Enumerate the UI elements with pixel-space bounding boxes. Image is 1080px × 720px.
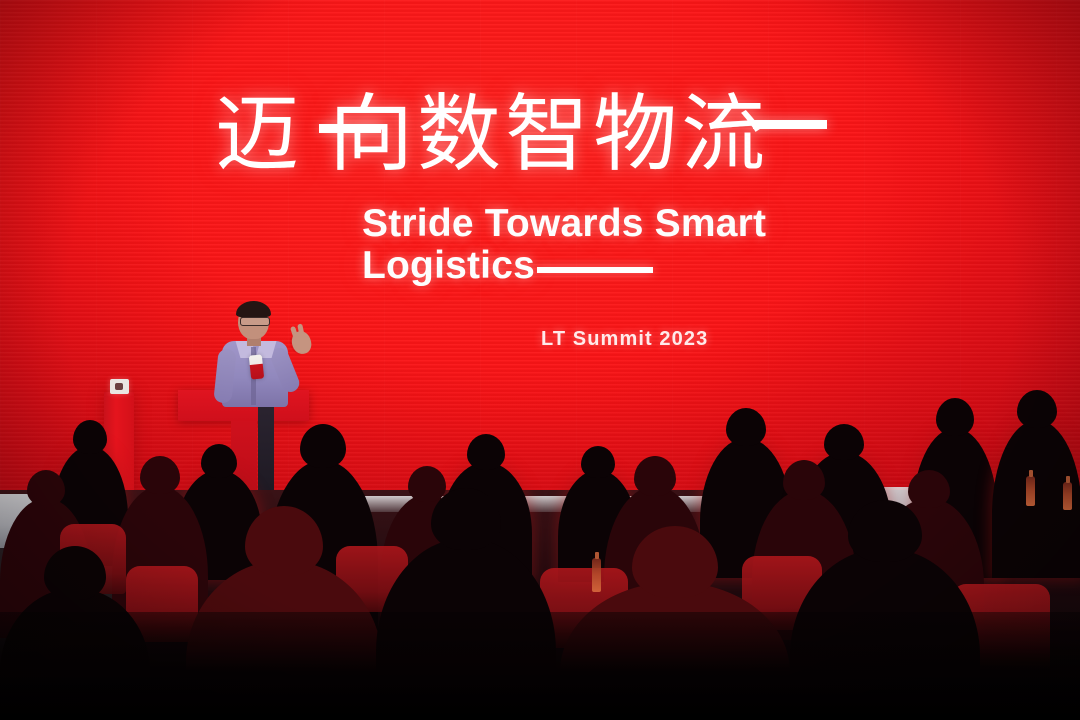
speaker-hair [236,301,271,318]
handheld-microphone [249,354,264,379]
side-pedestal [104,392,134,504]
slide-event-label: LT Summit 2023 [541,328,708,351]
slide-headline-english: Stride Towards SmartLogistics [362,203,982,287]
headline-cn-char-6: 流 [681,87,769,181]
speaker-figure [214,303,334,418]
headline-trailing-dash [753,120,827,129]
eyeglasses-icon [240,317,270,326]
speaker-raised-hand [290,329,313,355]
headline-en-line-2: Logistics [362,244,535,287]
headline-cn-char-4: 智 [505,87,593,181]
headline-cn-char-2: 向 [329,87,417,181]
pedestal-white-device [110,379,129,394]
conference-stage-photo: 迈向数智物流 Stride Towards SmartLogistics LT … [0,0,1080,720]
headline-cn-char-5: 物 [593,87,681,181]
slide-content: 迈向数智物流 Stride Towards SmartLogistics LT … [0,0,1080,505]
stage-edge-left [0,494,122,550]
slide-headline-chinese: 迈向数智物流 [215,92,995,176]
headline-cn-char-1: 迈 [215,87,303,181]
headline-leading-dash [319,124,381,133]
headline-en-line-1: Stride Towards Smart [362,202,766,245]
stage-edge-right [866,487,1080,531]
headline-en-underline [537,267,653,273]
stage-edge-center [300,496,860,512]
headline-cn-char-3: 数 [417,87,505,181]
dark-wall-left [0,548,128,720]
